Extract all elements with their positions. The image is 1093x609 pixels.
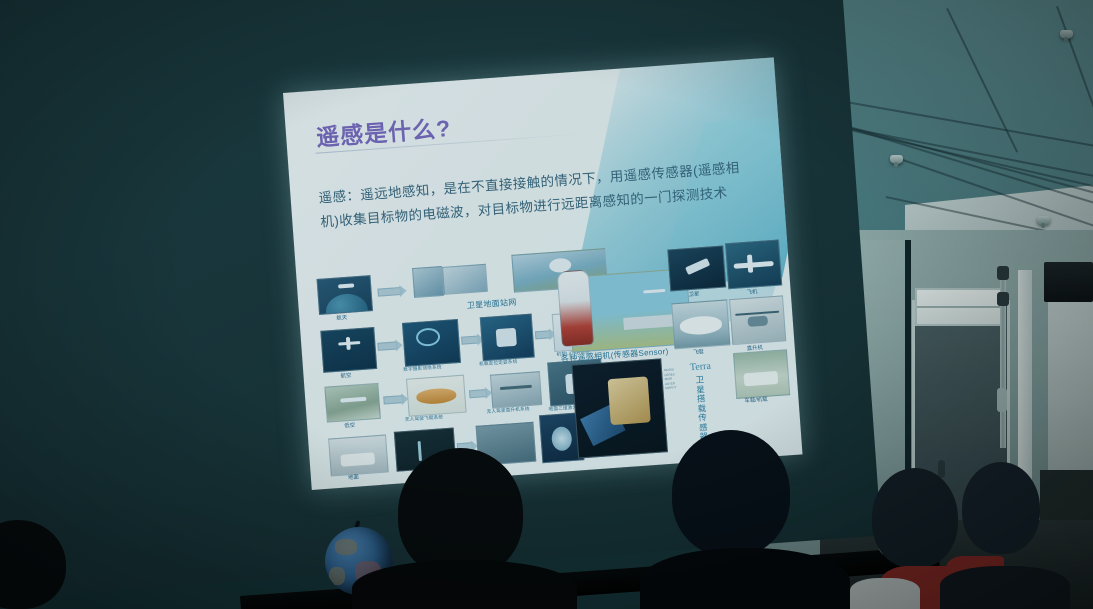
flow-arrow bbox=[383, 395, 404, 404]
uav-shape bbox=[340, 397, 366, 403]
caption-satellite-ground-network: 卫星地面站网 bbox=[466, 297, 516, 312]
rotor-shape bbox=[735, 311, 779, 316]
caption-uav-airship: 无人驾驶飞艇系统 bbox=[405, 414, 444, 423]
sensor-body bbox=[623, 314, 674, 330]
student-right-head bbox=[962, 462, 1040, 554]
airship-shape bbox=[679, 315, 722, 336]
sprinkler-icon bbox=[890, 155, 903, 164]
aircraft-wing bbox=[346, 337, 351, 350]
flow-arrow bbox=[377, 287, 402, 297]
thumb-ground-station-b bbox=[442, 264, 488, 295]
student-right-jacket bbox=[940, 566, 1070, 609]
thumb-ground bbox=[328, 434, 389, 476]
pipe-fitting bbox=[997, 292, 1009, 306]
point-cloud-shape bbox=[551, 426, 573, 451]
vehicle-shape bbox=[744, 371, 779, 386]
thumb-uav-airship bbox=[406, 375, 467, 417]
presentation-slide: 遥感是什么? 遥感：遥远地感知，是在不直接接触的情况下，用遥感传感器(遥感相机)… bbox=[283, 57, 803, 490]
student-masked-head bbox=[672, 430, 790, 556]
student-masked-profile bbox=[872, 468, 958, 568]
screenshot-root: 遥感是什么? 遥感：遥远地感知，是在不直接接触的情况下，用遥感传感器(遥感相机)… bbox=[0, 0, 1093, 609]
thumb-sensor-cylinder bbox=[557, 269, 594, 347]
aircraft-shape bbox=[734, 261, 774, 269]
pipe-fitting bbox=[997, 388, 1007, 412]
satellite-shape bbox=[685, 258, 710, 275]
thumb-helicopter bbox=[729, 295, 786, 345]
diagram-label-aviation: 航空 bbox=[340, 371, 351, 380]
satellite-shape bbox=[338, 283, 354, 288]
earth-sphere bbox=[325, 292, 369, 314]
student-masked-shirt bbox=[850, 578, 920, 609]
thumb-aviation bbox=[320, 327, 377, 373]
tripod-shape bbox=[418, 441, 422, 461]
lens-ring bbox=[415, 327, 440, 347]
heli-body bbox=[747, 316, 768, 327]
right-label-airship: 飞艇 bbox=[693, 347, 704, 356]
aircraft-shape bbox=[643, 289, 665, 294]
flow-arrow bbox=[535, 330, 552, 339]
thumb-airplane bbox=[725, 239, 782, 289]
right-label-satellite: 卫星 bbox=[688, 289, 699, 298]
sprinkler-icon bbox=[1037, 216, 1050, 225]
globe-continent bbox=[335, 539, 357, 555]
transom-mullion bbox=[917, 306, 1003, 308]
globe-continent bbox=[329, 567, 345, 585]
transom-window bbox=[915, 288, 1005, 326]
diagram-label-spacecraft: 航天 bbox=[336, 313, 347, 322]
thumb-low-altitude bbox=[324, 383, 380, 423]
right-label-airplane: 飞机 bbox=[746, 287, 757, 296]
sprinkler-icon bbox=[1060, 30, 1073, 39]
diagram-label-ground: 地面 bbox=[348, 473, 359, 482]
instrument-shape bbox=[496, 328, 517, 347]
thumb-airship bbox=[671, 299, 730, 349]
terra-word: Terra bbox=[690, 361, 712, 373]
airship-shape bbox=[416, 387, 457, 405]
student-center-shoulders-2 bbox=[640, 548, 850, 609]
terra-bus bbox=[608, 376, 651, 425]
door-handle[interactable] bbox=[938, 460, 945, 478]
vehicle-shape bbox=[340, 452, 375, 466]
aircraft-wing bbox=[747, 254, 753, 272]
diagram-label-low-altitude: 低空 bbox=[344, 421, 355, 430]
thumb-spacecraft bbox=[317, 275, 373, 315]
student-center-head bbox=[398, 448, 523, 578]
caption-airborne-pos: 机载定位定姿系统 bbox=[479, 359, 518, 368]
terra-label: 卫星搭载传感器 bbox=[693, 375, 712, 442]
thumb-pos-system bbox=[480, 314, 535, 362]
flow-arrow bbox=[469, 389, 488, 398]
caption-digital-photogrammetry: 数字摄影测绘系统 bbox=[403, 364, 442, 373]
thumb-photogrammetry bbox=[402, 319, 461, 367]
rotor-shape bbox=[500, 385, 532, 390]
flow-arrow bbox=[461, 335, 480, 344]
pipe-fitting bbox=[997, 266, 1009, 280]
thumb-terra-satellite bbox=[571, 358, 668, 458]
right-label-vehicle: 车载/机载 bbox=[744, 395, 768, 405]
terra-instrument-ticks: MODISCERESMISRASTERMOPITT bbox=[664, 367, 677, 390]
thumb-satellite bbox=[667, 246, 726, 292]
thumb-ground-station-a bbox=[412, 266, 444, 298]
wall-mounted-speaker bbox=[1044, 262, 1093, 302]
slide-title: 遥感是什么? bbox=[315, 109, 452, 153]
student-center-shoulders bbox=[352, 560, 577, 609]
thumb-vehicle bbox=[733, 349, 790, 399]
window-strip bbox=[1048, 300, 1093, 480]
flow-arrow bbox=[377, 341, 398, 350]
thumb-uav-helicopter bbox=[490, 371, 542, 409]
